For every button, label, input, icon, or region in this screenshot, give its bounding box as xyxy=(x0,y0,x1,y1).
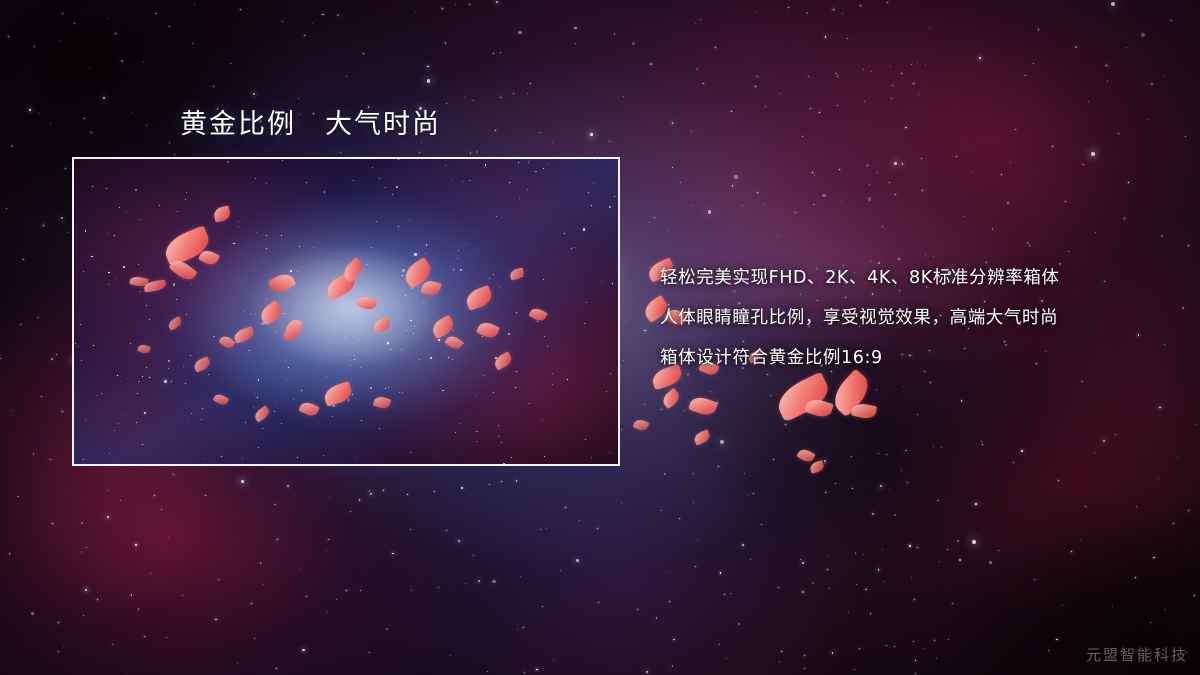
presentation-slide: 黄金比例 大气时尚 轻松完美实现FHD、2K、4K、8K标准分辨率箱体 人体眼睛… xyxy=(0,0,1200,675)
body-line-3: 箱体设计符合黄金比例16:9 xyxy=(660,338,1180,378)
page-title: 黄金比例 大气时尚 xyxy=(180,102,441,141)
framed-image xyxy=(72,157,620,466)
body-copy: 轻松完美实现FHD、2K、4K、8K标准分辨率箱体 人体眼睛瞳孔比例，享受视觉效… xyxy=(660,258,1180,378)
watermark: 元盟智能科技 xyxy=(1086,644,1188,665)
body-line-2: 人体眼睛瞳孔比例，享受视觉效果，高端大气时尚 xyxy=(660,298,1180,338)
body-line-1: 轻松完美实现FHD、2K、4K、8K标准分辨率箱体 xyxy=(660,258,1180,298)
framed-image-content xyxy=(74,159,618,464)
